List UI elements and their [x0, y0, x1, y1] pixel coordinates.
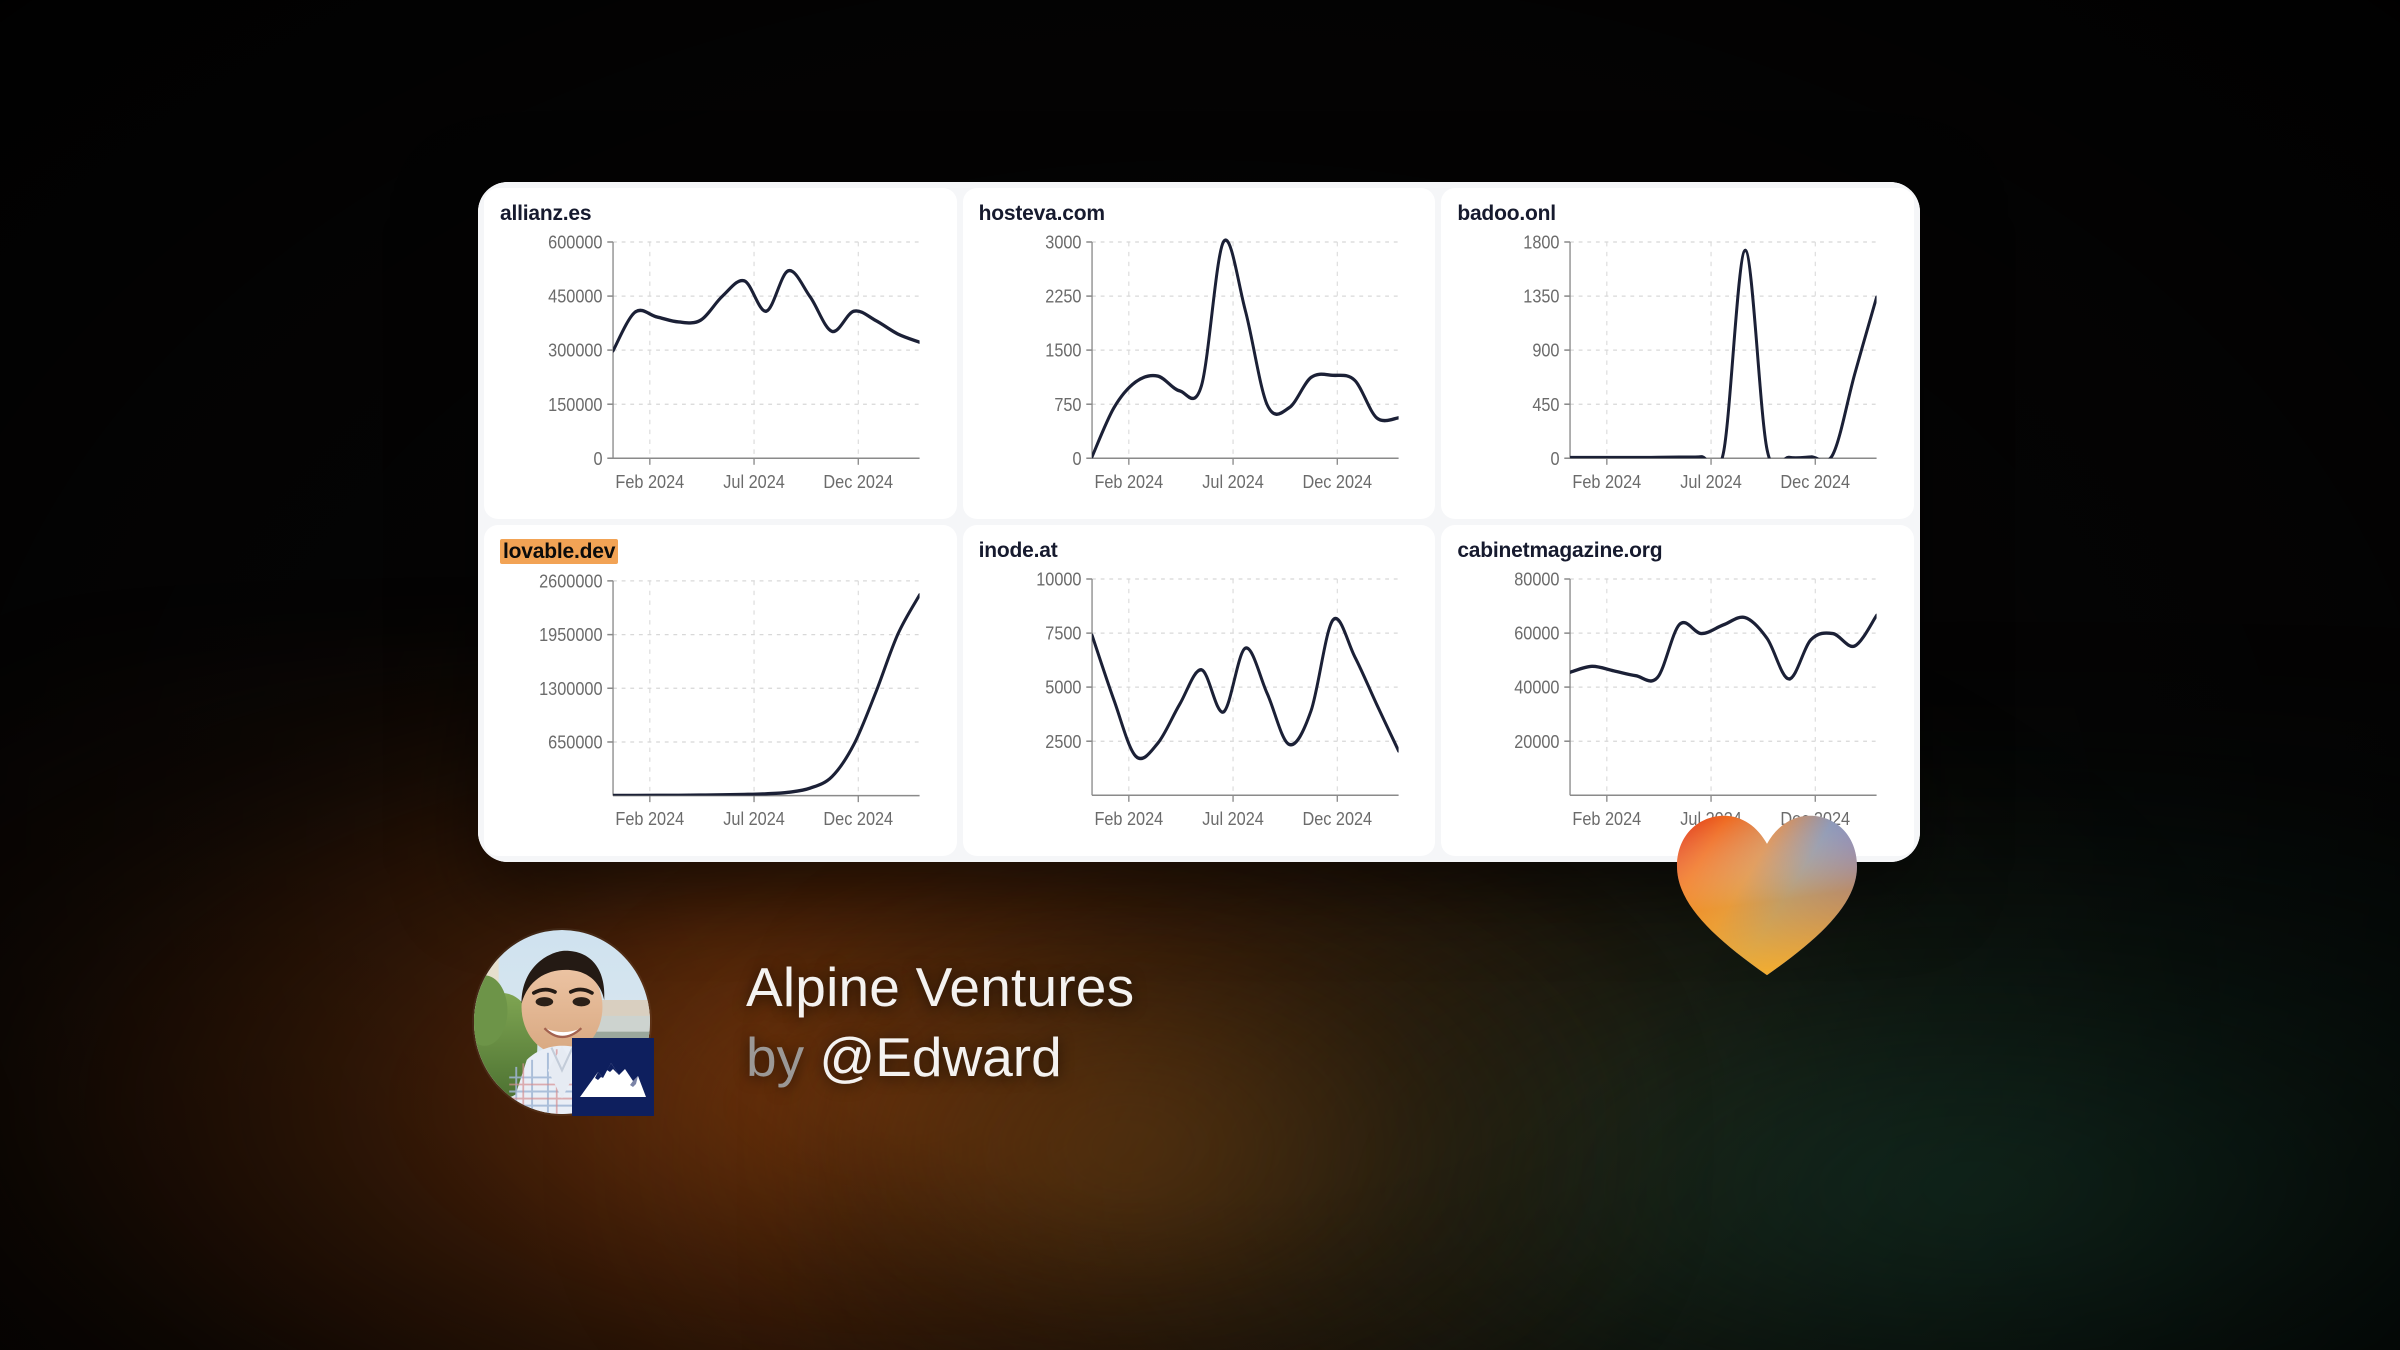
y-axis-tick-label: 1500 — [1045, 340, 1081, 361]
y-axis-tick-label: 750 — [1054, 394, 1081, 415]
y-axis-tick-label: 2600000 — [539, 571, 603, 592]
chart-plot: 25005000750010000Feb 2024Jul 2024Dec 202… — [979, 568, 1420, 848]
y-axis-tick-label: 300000 — [548, 340, 603, 361]
y-axis-tick-label: 80000 — [1515, 569, 1560, 590]
chart-card[interactable]: inode.at25005000750010000Feb 2024Jul 202… — [963, 525, 1436, 856]
y-axis-tick-label: 2250 — [1045, 286, 1081, 307]
chart-line — [1570, 616, 1877, 682]
x-axis-tick-label: Feb 2024 — [615, 471, 684, 492]
author-handle[interactable]: @Edward — [819, 1026, 1061, 1088]
chart-line — [1092, 619, 1399, 759]
page-title: Alpine Ventures — [746, 959, 1134, 1015]
y-axis-tick-label: 2500 — [1045, 731, 1081, 752]
heart-icon[interactable] — [1672, 812, 1862, 977]
y-axis-tick-label: 600000 — [548, 232, 603, 253]
footer-row: Alpine Ventures by @Edward — [472, 928, 1134, 1116]
y-axis-tick-label: 650000 — [548, 732, 603, 753]
avatar[interactable] — [472, 928, 652, 1116]
y-axis-tick-label: 60000 — [1515, 623, 1560, 644]
y-axis-tick-label: 450 — [1533, 394, 1560, 415]
chart-plot: 650000130000019500002600000Feb 2024Jul 2… — [500, 570, 941, 848]
x-axis-tick-label: Dec 2024 — [1302, 808, 1372, 829]
chart-plot: 045090013501800Feb 2024Jul 2024Dec 2024 — [1457, 231, 1898, 511]
x-axis-tick-label: Feb 2024 — [1094, 808, 1163, 829]
chart-title: inode.at — [979, 539, 1058, 562]
mountain-icon — [572, 1038, 654, 1116]
chart-title: allianz.es — [500, 202, 591, 225]
x-axis-tick-label: Dec 2024 — [823, 808, 893, 829]
chart-line — [1570, 250, 1877, 469]
x-axis-tick-label: Feb 2024 — [615, 808, 684, 829]
chart-card[interactable]: hosteva.com0750150022503000Feb 2024Jul 2… — [963, 188, 1436, 519]
chart-title: lovable.dev — [500, 539, 618, 564]
y-axis-tick-label: 1300000 — [539, 678, 603, 699]
chart-title: badoo.onl — [1457, 202, 1556, 225]
y-axis-tick-label: 10000 — [1036, 569, 1082, 590]
y-axis-tick-label: 1350 — [1524, 286, 1560, 307]
chart-card[interactable]: lovable.dev650000130000019500002600000Fe… — [484, 525, 957, 856]
chart-plot: 0150000300000450000600000Feb 2024Jul 202… — [500, 231, 941, 511]
x-axis-tick-label: Dec 2024 — [1302, 471, 1372, 492]
y-axis-tick-label: 150000 — [548, 394, 603, 415]
y-axis-tick-label: 1800 — [1524, 232, 1560, 253]
y-axis-tick-label: 0 — [593, 448, 602, 469]
y-axis-tick-label: 40000 — [1515, 677, 1560, 698]
y-axis-tick-label: 7500 — [1045, 623, 1081, 644]
x-axis-tick-label: Feb 2024 — [1094, 471, 1163, 492]
chart-line — [613, 271, 920, 351]
chart-line — [613, 595, 920, 795]
x-axis-tick-label: Jul 2024 — [723, 471, 785, 492]
chart-plot: 20000400006000080000Feb 2024Jul 2024Dec … — [1457, 568, 1898, 848]
y-axis-tick-label: 0 — [1072, 448, 1081, 469]
chart-title: cabinetmagazine.org — [1457, 539, 1662, 562]
chart-line — [1092, 240, 1399, 457]
x-axis-tick-label: Dec 2024 — [823, 471, 893, 492]
x-axis-tick-label: Dec 2024 — [1781, 471, 1851, 492]
dashboard-panel: allianz.es0150000300000450000600000Feb 2… — [478, 182, 1920, 862]
y-axis-tick-label: 1950000 — [539, 624, 603, 645]
chart-title: hosteva.com — [979, 202, 1105, 225]
y-axis-tick-label: 900 — [1533, 340, 1560, 361]
footer-subtitle: by @Edward — [746, 1029, 1134, 1085]
chart-card[interactable]: allianz.es0150000300000450000600000Feb 2… — [484, 188, 957, 519]
chart-plot: 0750150022503000Feb 2024Jul 2024Dec 2024 — [979, 231, 1420, 511]
chart-grid: allianz.es0150000300000450000600000Feb 2… — [478, 182, 1920, 862]
by-label: by — [746, 1026, 804, 1088]
y-axis-tick-label: 0 — [1551, 448, 1560, 469]
x-axis-tick-label: Jul 2024 — [1202, 471, 1264, 492]
footer-text: Alpine Ventures by @Edward — [746, 959, 1134, 1084]
chart-card[interactable]: badoo.onl045090013501800Feb 2024Jul 2024… — [1441, 188, 1914, 519]
y-axis-tick-label: 20000 — [1515, 731, 1560, 752]
x-axis-tick-label: Jul 2024 — [1202, 808, 1264, 829]
y-axis-tick-label: 450000 — [548, 286, 603, 307]
x-axis-tick-label: Jul 2024 — [723, 808, 785, 829]
x-axis-tick-label: Feb 2024 — [1573, 808, 1642, 829]
x-axis-tick-label: Jul 2024 — [1681, 471, 1743, 492]
chart-card[interactable]: cabinetmagazine.org20000400006000080000F… — [1441, 525, 1914, 856]
y-axis-tick-label: 3000 — [1045, 232, 1081, 253]
x-axis-tick-label: Feb 2024 — [1573, 471, 1642, 492]
y-axis-tick-label: 5000 — [1045, 677, 1081, 698]
